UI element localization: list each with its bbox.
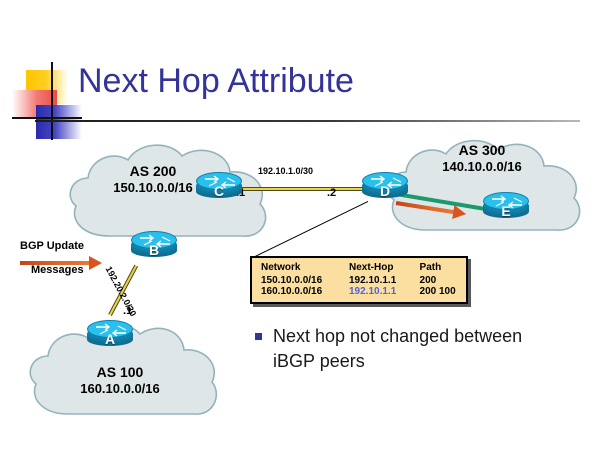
- cloud-as100-as: AS 100: [30, 364, 210, 380]
- link-c-d: [232, 187, 368, 191]
- router-e[interactable]: E: [483, 192, 529, 222]
- cloud-as300-label: AS 300 140.10.0.0/16: [392, 142, 572, 174]
- slide-canvas: Next Hop Attribute AS 200 150.10.0.0/16 …: [0, 0, 600, 450]
- table-row: 150.10.0.0/16 192.10.1.1 200: [252, 275, 466, 286]
- table-cell-network: 150.10.0.0/16: [252, 275, 349, 286]
- table-header-path: Path: [420, 262, 466, 275]
- cloud-as300-prefix: 140.10.0.0/16: [392, 159, 572, 174]
- link-c-d-iface-right: .2: [327, 187, 336, 199]
- cloud-as300-as: AS 300: [392, 142, 572, 158]
- router-d-label: D: [362, 183, 408, 199]
- table-header-network: Network: [252, 262, 349, 275]
- table-cell-path: 200 100: [420, 286, 466, 297]
- router-b[interactable]: B: [131, 231, 177, 261]
- table-cell-next-hop: 192.10.1.1: [349, 275, 420, 286]
- table-header-next-hop: Next-Hop: [349, 262, 420, 275]
- bullet-block: Next hop not changed between iBGP peers: [255, 324, 545, 374]
- router-c[interactable]: C: [196, 172, 242, 202]
- router-a[interactable]: A: [87, 320, 133, 350]
- cloud-as100-prefix: 160.10.0.0/16: [30, 381, 210, 396]
- table-cell-network: 160.10.0.0/16: [252, 286, 349, 297]
- table-cell-path: 200: [420, 275, 466, 286]
- logo-blue-square: [36, 105, 82, 139]
- bullet-text: Next hop not changed between iBGP peers: [273, 324, 545, 374]
- table-header-row: Network Next-Hop Path: [252, 262, 466, 275]
- link-a-b-iface-lower: .1: [123, 305, 132, 317]
- bgp-update-label-line1: BGP Update: [20, 240, 84, 252]
- cloud-as100-label: AS 100 160.10.0.0/16: [30, 364, 210, 396]
- title-divider: [35, 120, 580, 122]
- router-a-label: A: [87, 331, 133, 347]
- router-c-label: C: [196, 183, 242, 199]
- router-e-label: E: [483, 203, 529, 219]
- router-d[interactable]: D: [362, 172, 408, 202]
- page-title: Next Hop Attribute: [78, 62, 354, 101]
- bgp-update-label-line2: Messages: [31, 264, 84, 276]
- router-b-label: B: [131, 242, 177, 258]
- routing-table: Network Next-Hop Path 150.10.0.0/16 192.…: [250, 256, 468, 304]
- table-row: 160.10.0.0/16 192.10.1.1 200 100: [252, 286, 466, 297]
- bullet-square-icon: [255, 333, 262, 340]
- logo-vertical-line: [51, 62, 53, 140]
- link-c-d-network: 192.10.1.0/30: [258, 166, 313, 176]
- table-cell-next-hop-highlighted: 192.10.1.1: [349, 286, 420, 297]
- logo-horizontal-line: [12, 117, 82, 119]
